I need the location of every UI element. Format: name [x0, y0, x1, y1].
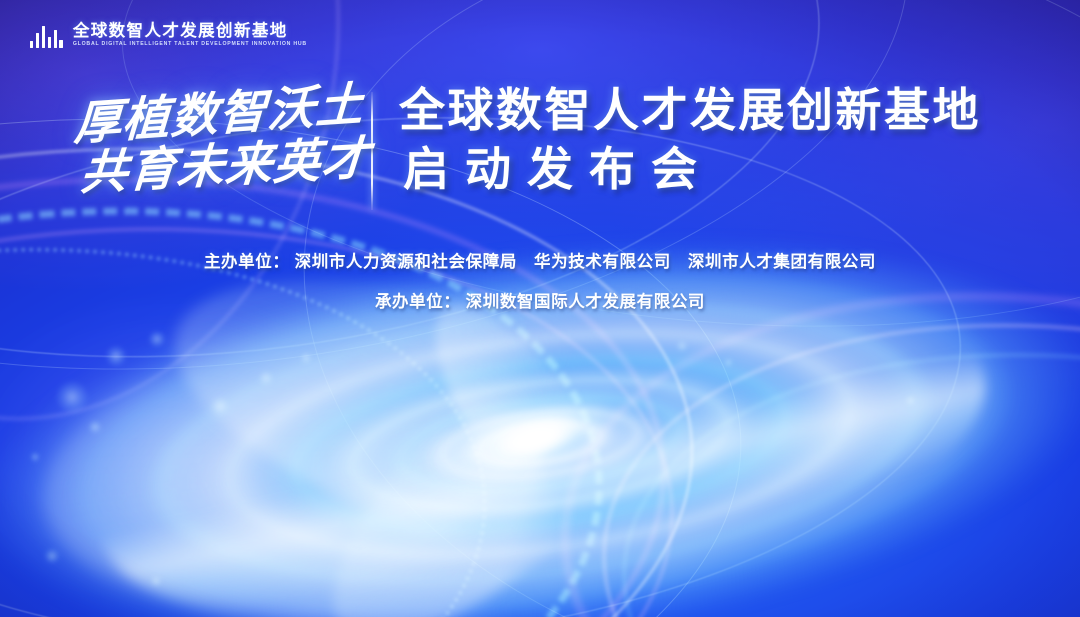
host-organizations-line: 主办单位： 深圳市人力资源和社会保障局 华为技术有限公司 深圳市人才集团有限公司 — [204, 248, 876, 272]
brand-logo: 全球数智人才发展创新基地 GLOBAL DIGITAL INTELLIGENT … — [30, 22, 307, 48]
brand-name-en: GLOBAL DIGITAL INTELLIGENT TALENT DEVELO… — [73, 42, 307, 47]
event-title-primary: 全球数智人才发展创新基地 — [399, 86, 981, 136]
vertical-divider — [371, 92, 373, 210]
headline-block: 厚植数智沃土 共育未来英才 全球数智人才发展创新基地 启动发布会 — [0, 86, 1080, 210]
bar-chart-logo-icon — [30, 22, 63, 48]
brand-name-cn: 全球数智人才发展创新基地 — [73, 23, 307, 40]
title-group: 全球数智人才发展创新基地 启动发布会 — [399, 86, 981, 196]
event-title-secondary: 启动发布会 — [399, 142, 981, 196]
calligraphy-line-2: 共育未来英才 — [79, 136, 372, 199]
brand-logo-text: 全球数智人才发展创新基地 GLOBAL DIGITAL INTELLIGENT … — [73, 23, 307, 47]
co-organizer-line: 承办单位： 深圳数智国际人才发展有限公司 — [375, 288, 705, 312]
event-backdrop-stage: 全球数智人才发展创新基地 GLOBAL DIGITAL INTELLIGENT … — [0, 0, 1080, 617]
organizer-block: 主办单位： 深圳市人力资源和社会保障局 华为技术有限公司 深圳市人才集团有限公司… — [0, 248, 1080, 312]
calligraphy-slogan: 厚植数智沃土 共育未来英才 — [93, 86, 345, 192]
